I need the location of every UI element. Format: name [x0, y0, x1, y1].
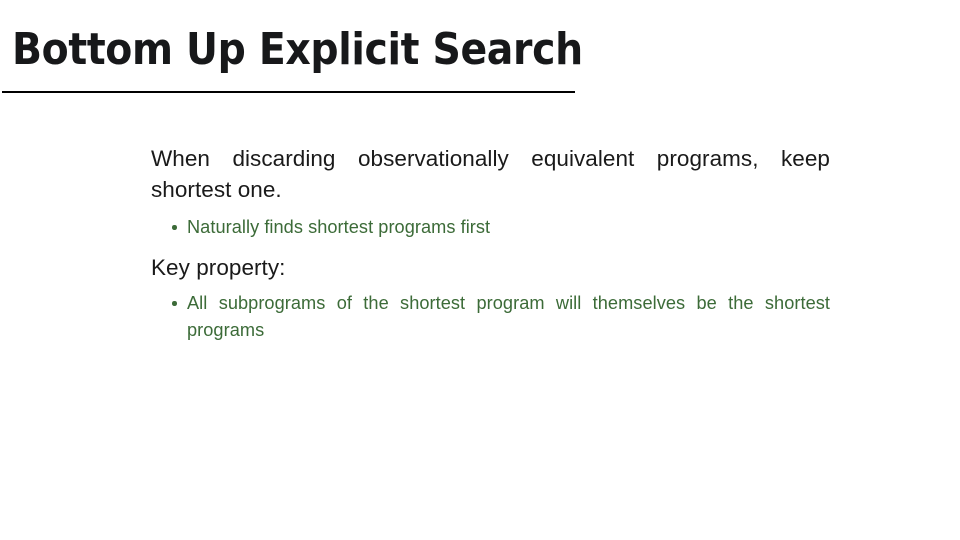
list-item: Naturally finds shortest programs first — [151, 214, 830, 241]
bullet-list-second: All subprograms of the shortest program … — [151, 290, 830, 371]
round-bullet-icon — [172, 301, 177, 306]
body-paragraph-discarding: When discarding observationally equivale… — [151, 143, 830, 205]
page-title: Bottom Up Explicit Search — [12, 22, 746, 78]
list-item: All subprograms of the shortest program … — [151, 290, 830, 371]
round-bullet-icon — [172, 225, 177, 230]
bullet-list-first: Naturally finds shortest programs first — [151, 214, 830, 241]
list-item-label: All subprograms of the shortest program … — [187, 293, 830, 340]
slide-body: When discarding observationally equivale… — [151, 143, 830, 371]
title-divider — [2, 91, 575, 93]
body-paragraph-key-property: Key property: — [151, 252, 830, 283]
presentation-slide: Bottom Up Explicit Search When discardin… — [0, 0, 960, 540]
list-item-label: Naturally finds shortest programs first — [187, 217, 490, 237]
